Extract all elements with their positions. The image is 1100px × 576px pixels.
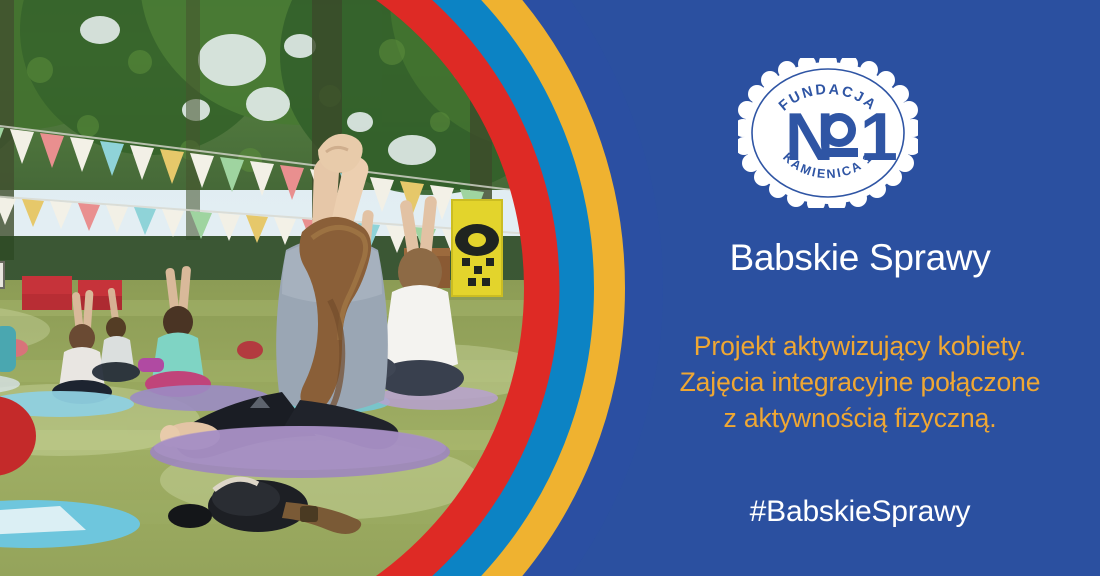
description-line-1: Projekt aktywizujący kobiety.	[620, 328, 1100, 364]
foundation-logo: FUNDACJA N 1 KAMIENICA 1	[738, 58, 918, 208]
promo-banner: FUNDACJA N 1 KAMIENICA 1 Babskie Sprawy …	[0, 0, 1100, 576]
hashtag-label: #BabskieSprawy	[620, 495, 1100, 529]
logo-badge-svg: FUNDACJA N 1 KAMIENICA 1	[738, 58, 918, 208]
description-line-2: Zajęcia integracyjne połączone	[620, 364, 1100, 400]
description-line-3: z aktywnością fizyczną.	[620, 400, 1100, 436]
description-text: Projekt aktywizujący kobiety. Zajęcia in…	[620, 328, 1100, 436]
content-column: FUNDACJA N 1 KAMIENICA 1 Babskie Sprawy …	[620, 0, 1100, 576]
page-title: Babskie Sprawy	[620, 238, 1100, 279]
logo-ordinal-underline	[822, 148, 858, 157]
